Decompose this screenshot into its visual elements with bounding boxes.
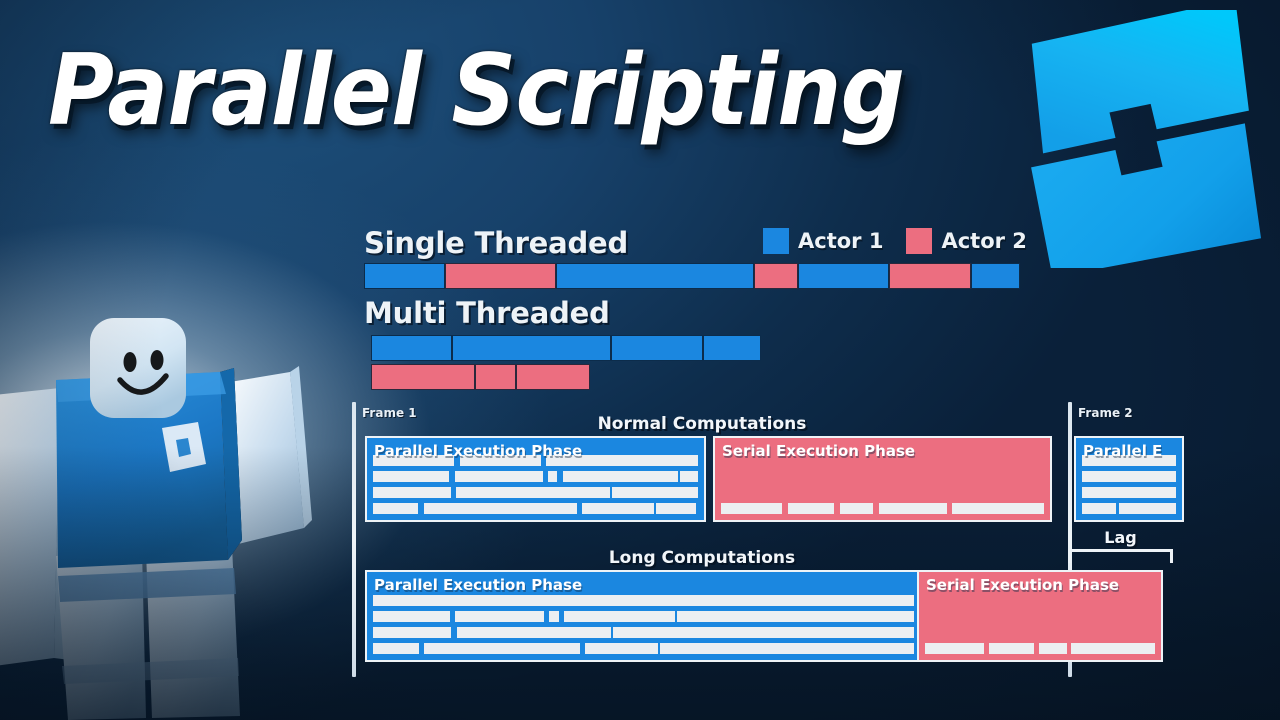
task-block (655, 502, 698, 515)
task-block (562, 470, 680, 483)
multi-threaded-lane-actor-1 (371, 335, 777, 361)
task-row-4 (372, 642, 915, 655)
task-block (563, 610, 676, 623)
task-block (456, 626, 612, 639)
task-row-4 (1081, 502, 1177, 515)
multi-actor1-segment-1 (371, 335, 452, 361)
task-block (611, 486, 699, 499)
roblox-logo (1008, 10, 1272, 268)
lag-bracket (1068, 549, 1173, 563)
frame-divider-1 (352, 402, 356, 677)
task-block (372, 486, 452, 499)
task-block (612, 626, 915, 639)
task-block (454, 470, 544, 483)
single-threaded-timeline (364, 263, 1020, 289)
multi-threaded-heading: Multi Threaded (364, 296, 610, 330)
task-row-4 (372, 502, 699, 515)
task-block (454, 610, 545, 623)
task-block (720, 502, 783, 515)
task-row-1 (924, 642, 1156, 655)
lag-label: Lag (1068, 528, 1173, 547)
avatar-legs (56, 546, 240, 720)
task-block (988, 642, 1036, 655)
phase-label: Serial Execution Phase (926, 576, 1119, 594)
task-row-3 (372, 486, 699, 499)
single-thread-segment-3 (556, 263, 754, 289)
single-thread-segment-2 (445, 263, 557, 289)
task-block (679, 470, 699, 483)
phase-task-rows (372, 591, 915, 655)
task-block (581, 502, 655, 515)
execution-phase-diagram: Frame 1Frame 2Normal ComputationsParalle… (352, 402, 1280, 677)
serial-execution-phase-r1-2: Serial Execution Phase (713, 436, 1052, 522)
task-row-1 (372, 594, 915, 607)
task-block (372, 470, 450, 483)
task-block (1118, 502, 1177, 515)
task-block (372, 502, 419, 515)
task-block (455, 486, 610, 499)
frame-label-2: Frame 2 (1078, 406, 1133, 420)
multi-actor1-segment-3 (611, 335, 704, 361)
task-block (372, 594, 915, 607)
lag-indicator: Lag (1068, 528, 1173, 564)
actor-legend: Actor 1 Actor 2 (763, 228, 1041, 254)
task-row-2 (1081, 470, 1177, 483)
phase-task-rows (924, 639, 1156, 655)
task-block (372, 610, 451, 623)
multi-actor2-segment-1 (371, 364, 475, 390)
multi-actor1-segment-2 (452, 335, 611, 361)
task-block (878, 502, 948, 515)
phase-task-rows (372, 451, 699, 515)
task-block (1081, 470, 1177, 483)
row-title-2: Long Computations (352, 548, 1052, 568)
single-thread-segment-1 (364, 263, 445, 289)
phase-task-rows (1081, 451, 1177, 515)
task-block (924, 642, 985, 655)
task-block (1070, 642, 1156, 655)
task-block (839, 502, 875, 515)
task-block (659, 642, 915, 655)
task-block (787, 502, 836, 515)
task-block (423, 642, 580, 655)
task-block (676, 610, 915, 623)
phase-task-rows (720, 499, 1045, 515)
task-row-2 (372, 470, 699, 483)
task-block (951, 502, 1045, 515)
legend-swatch-actor-1 (763, 228, 789, 254)
single-thread-segment-6 (889, 263, 971, 289)
phase-label: Serial Execution Phase (722, 442, 915, 460)
task-row-3 (1081, 486, 1177, 499)
roblox-avatar-character (0, 288, 324, 720)
task-block (548, 610, 559, 623)
task-block (1081, 502, 1117, 515)
task-block (372, 642, 420, 655)
task-row-2 (372, 610, 915, 623)
avatar-head (90, 318, 186, 418)
multi-threaded-lane-actor-2 (371, 364, 597, 390)
task-block (584, 642, 659, 655)
parallel-execution-phase-r1-3: Parallel E (1074, 436, 1184, 522)
single-threaded-heading: Single Threaded (364, 226, 628, 260)
task-block (372, 626, 452, 639)
multi-actor1-segment-4 (703, 335, 760, 361)
legend-label-actor-2: Actor 2 (941, 229, 1026, 253)
task-row-3 (372, 626, 915, 639)
parallel-execution-phase-r2-1: Parallel Execution Phase (365, 570, 922, 662)
phase-label: Parallel Execution Phase (374, 576, 582, 594)
serial-execution-phase-r2-2: Serial Execution Phase (917, 570, 1163, 662)
single-thread-segment-4 (754, 263, 797, 289)
task-row-1 (720, 502, 1045, 515)
parallel-execution-phase-r1-1: Parallel Execution Phase (365, 436, 706, 522)
single-thread-segment-5 (798, 263, 889, 289)
page-title: Parallel Scripting (48, 34, 904, 148)
row-title-1: Normal Computations (352, 414, 1052, 434)
task-block (1081, 486, 1177, 499)
multi-actor2-segment-3 (516, 364, 590, 390)
phase-label: Parallel Execution Phase (374, 442, 582, 460)
task-block (1038, 642, 1068, 655)
single-thread-segment-7 (971, 263, 1020, 289)
phase-label: Parallel E (1083, 442, 1162, 460)
task-block (423, 502, 578, 515)
multi-actor2-segment-2 (475, 364, 516, 390)
legend-label-actor-1: Actor 1 (798, 229, 883, 253)
task-block (547, 470, 558, 483)
legend-swatch-actor-2 (906, 228, 932, 254)
